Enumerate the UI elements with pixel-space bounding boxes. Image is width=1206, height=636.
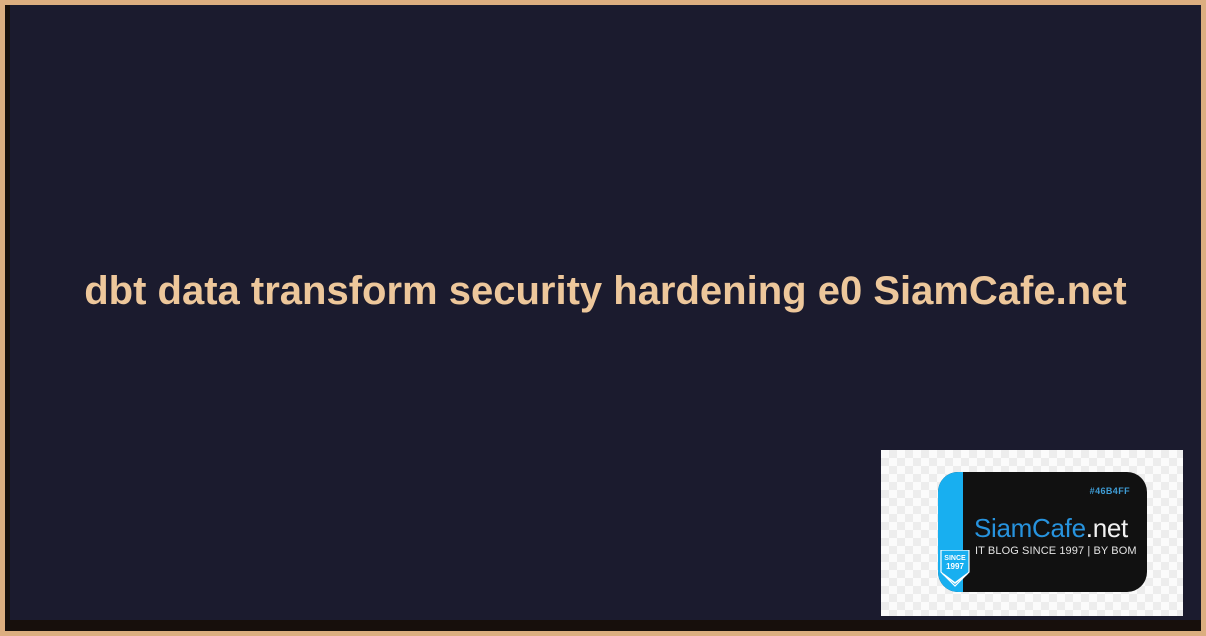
logo-brand-text: SiamCafe <box>974 513 1086 543</box>
logo-tagline: IT BLOG SINCE 1997 | BY BOM <box>975 545 1137 557</box>
since-1997-shield-icon: SINCE 1997 <box>939 550 971 590</box>
page-title: dbt data transform security hardening e0… <box>10 269 1201 313</box>
svg-text:SINCE: SINCE <box>944 555 966 562</box>
logo-tld-text: .net <box>1086 513 1128 543</box>
logo-card: SINCE 1997 #46B4FF SiamCafe.net IT BLOG … <box>938 472 1147 592</box>
logo-wordmark: SiamCafe.net <box>974 513 1128 544</box>
page-frame: dbt data transform security hardening e0… <box>0 0 1206 636</box>
logo-hex-color-label: #46B4FF <box>1090 486 1130 496</box>
page-canvas: dbt data transform security hardening e0… <box>10 5 1201 620</box>
siamcafe-logo-image: SINCE 1997 #46B4FF SiamCafe.net IT BLOG … <box>881 450 1183 616</box>
svg-text:1997: 1997 <box>946 562 964 571</box>
